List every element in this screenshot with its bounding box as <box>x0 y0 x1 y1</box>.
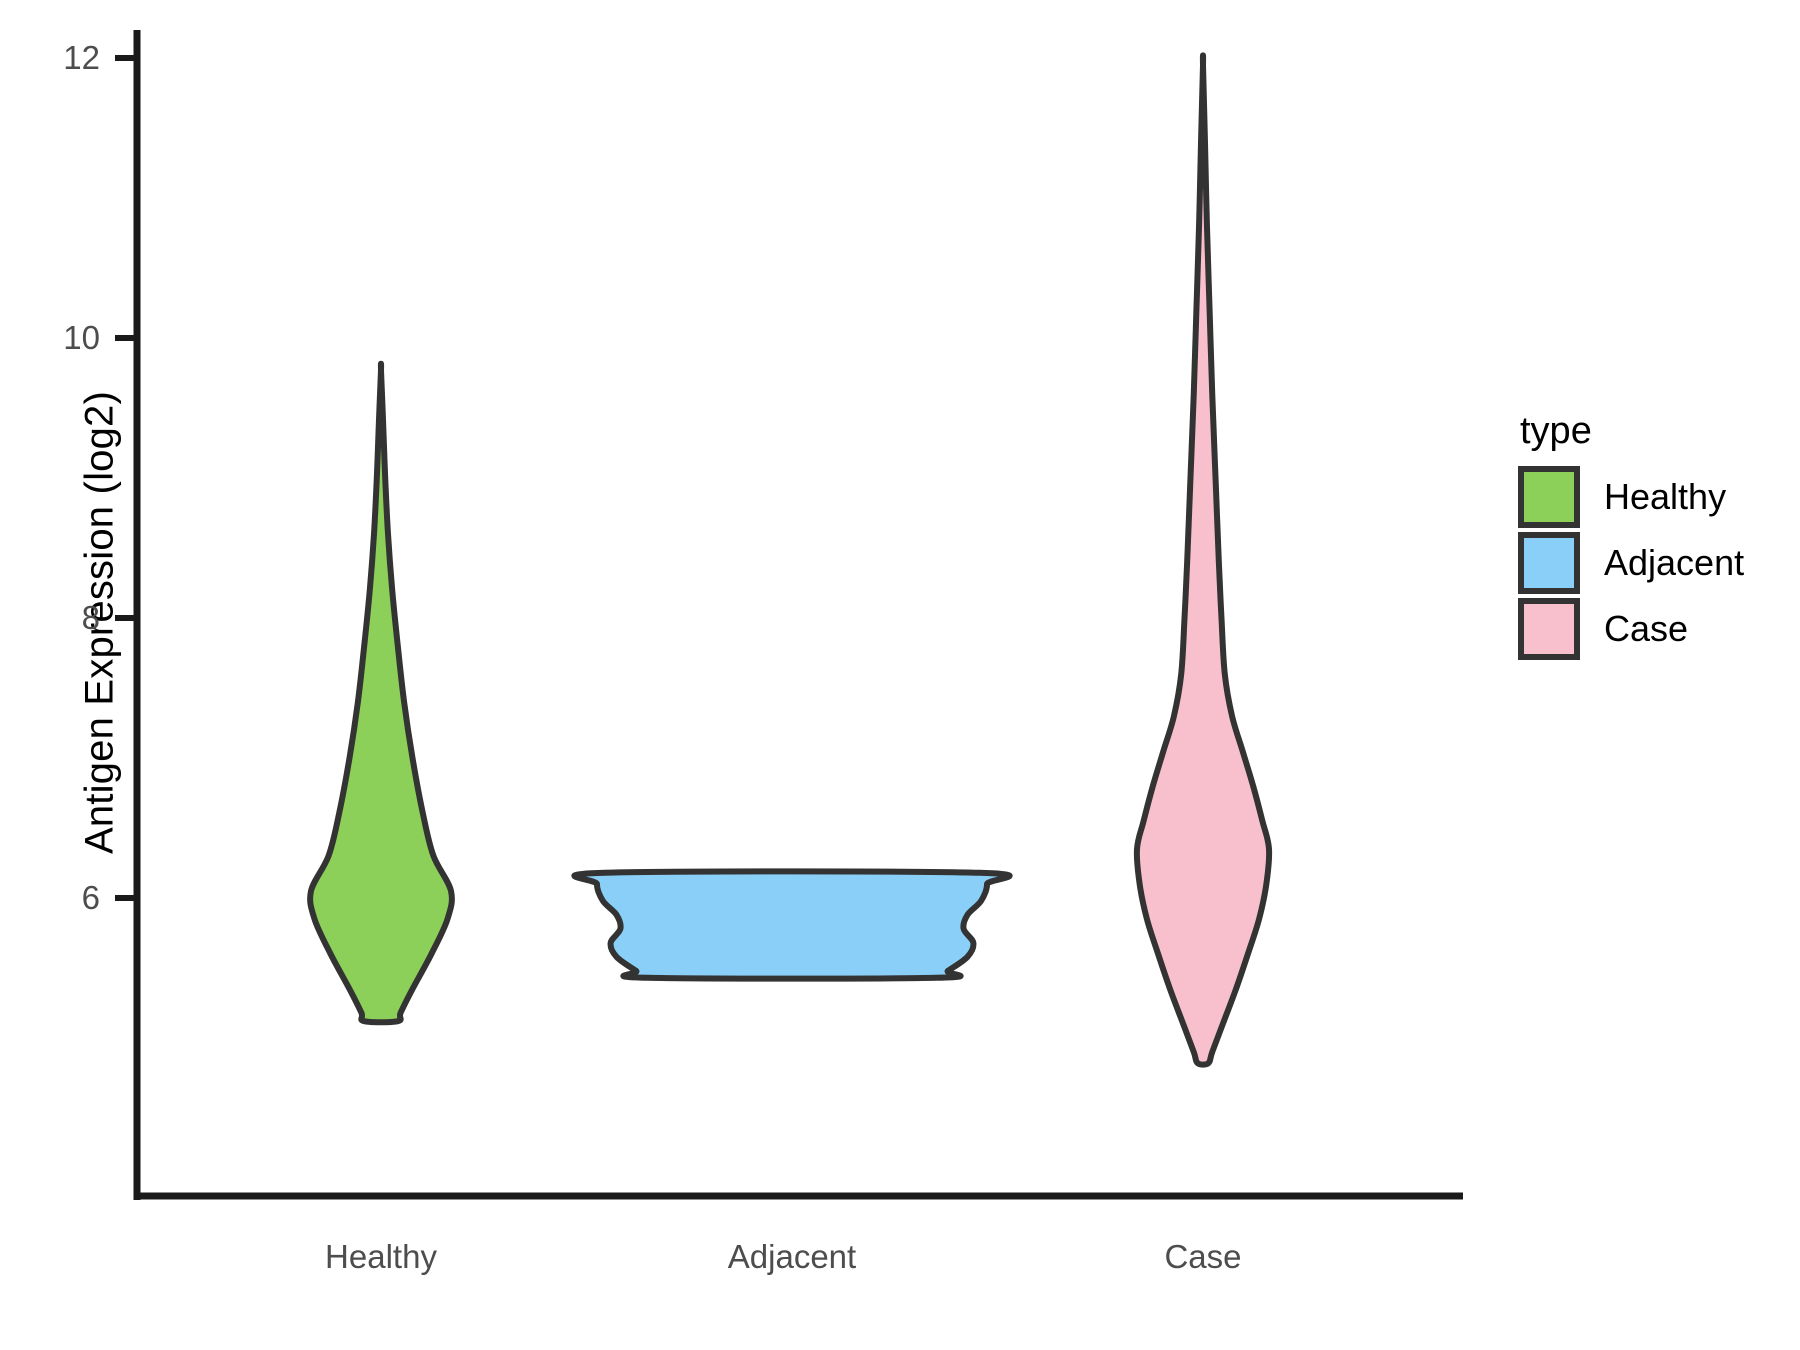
violin-healthy <box>310 364 452 1023</box>
legend-label-case: Case <box>1604 608 1688 650</box>
legend-item-adjacent[interactable]: Adjacent <box>1518 530 1778 596</box>
legend-title: type <box>1520 412 1778 450</box>
plot-canvas <box>0 0 1800 1350</box>
legend-key-healthy <box>1518 466 1580 528</box>
violin-adjacent <box>574 871 1009 978</box>
legend: type Healthy Adjacent Case <box>1518 412 1778 662</box>
violin-case <box>1137 55 1269 1064</box>
legend-item-case[interactable]: Case <box>1518 596 1778 662</box>
legend-label-adjacent: Adjacent <box>1604 542 1744 584</box>
violin-shapes-group <box>310 55 1269 1064</box>
legend-item-healthy[interactable]: Healthy <box>1518 464 1778 530</box>
legend-label-healthy: Healthy <box>1604 476 1726 518</box>
legend-key-case <box>1518 598 1580 660</box>
violin-plot-figure: Antigen Expression (log2) 12 10 8 6 Heal… <box>0 0 1800 1350</box>
legend-key-adjacent <box>1518 532 1580 594</box>
